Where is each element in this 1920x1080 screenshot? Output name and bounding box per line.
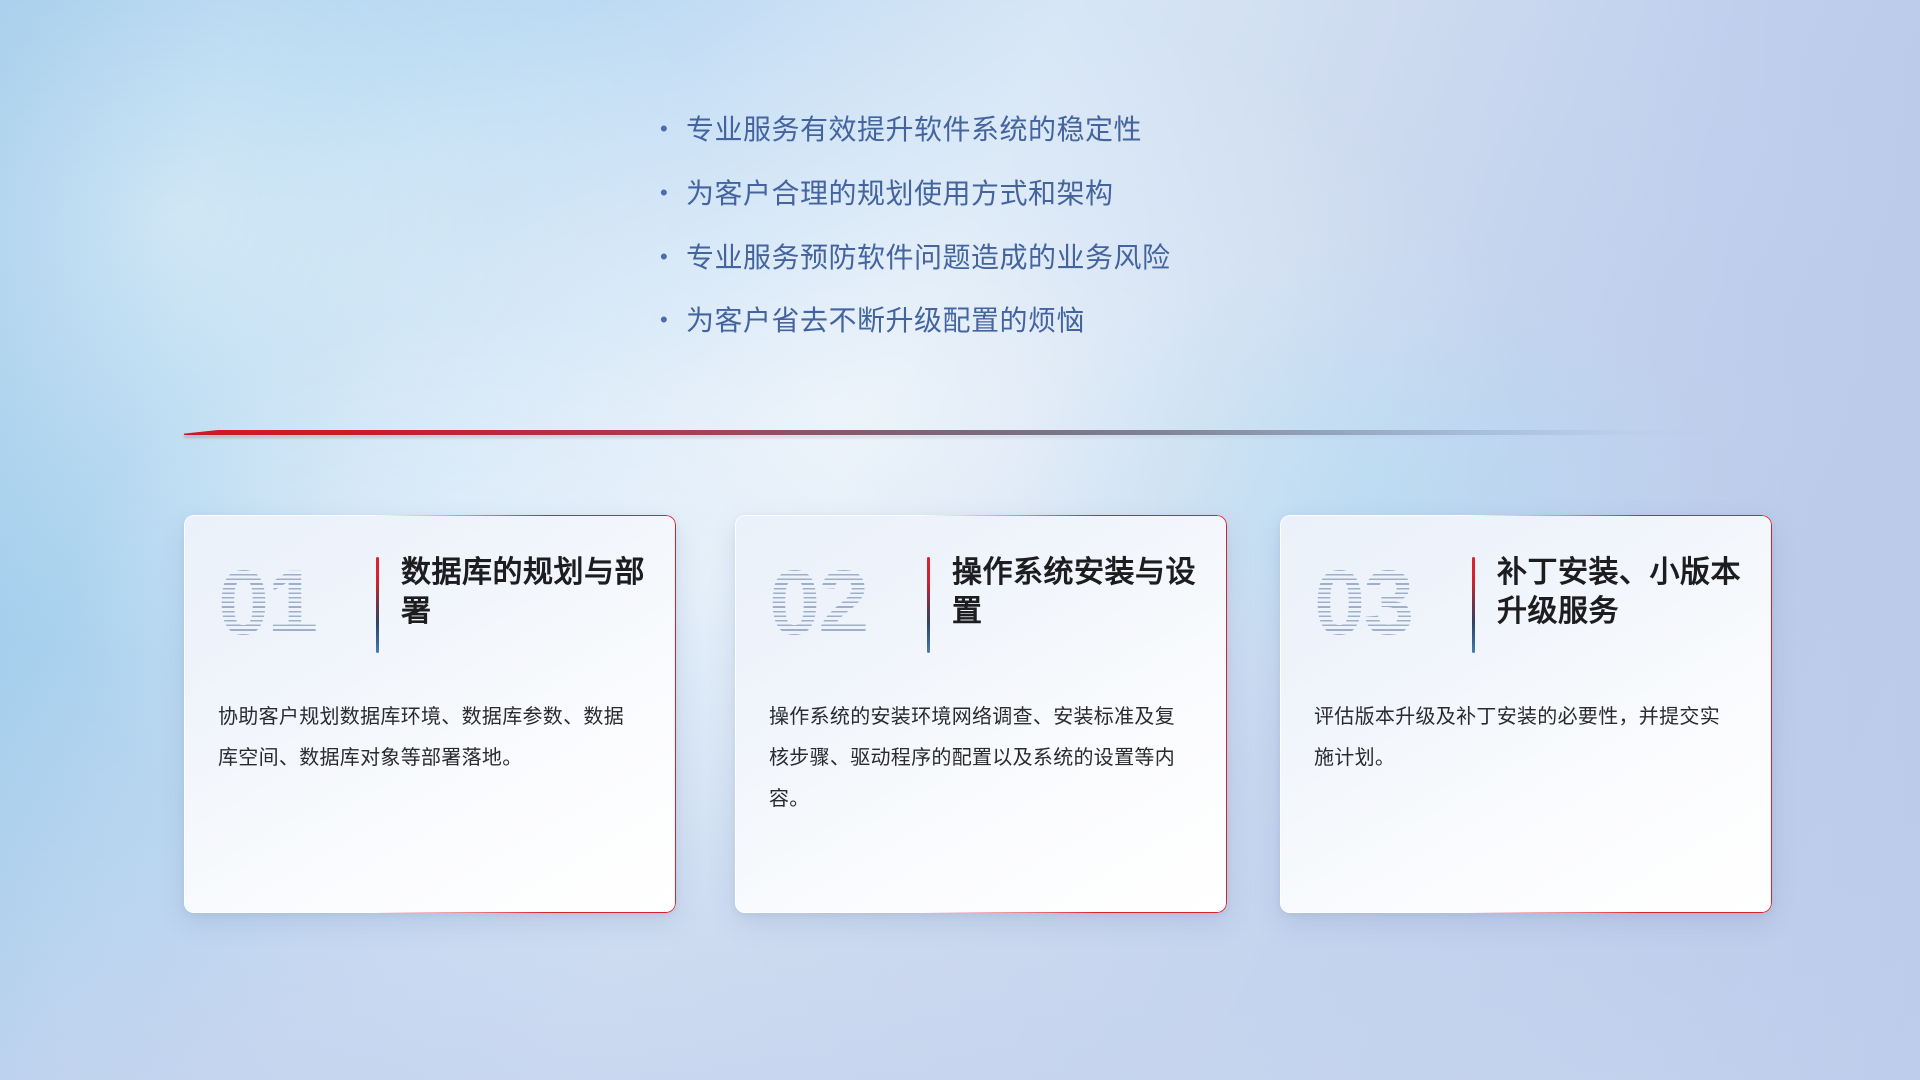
bullet-dot-icon (660, 246, 686, 268)
bullet-dot-icon (660, 309, 686, 331)
card-number-text: 03 (1314, 551, 1466, 655)
service-card-row: 01 数据库的规划与部署 协助客户规划数据库环境、数据库参数、数据库空间、数据库… (0, 515, 1920, 935)
card-accent-bar (1472, 557, 1475, 653)
card-number-watermark: 01 (218, 551, 370, 659)
list-item: 专业服务预防软件问题造成的业务风险 (660, 240, 1420, 276)
card-header: 02 操作系统安装与设置 (735, 515, 1227, 675)
card-title: 数据库的规划与部署 (401, 551, 646, 631)
section-divider (184, 428, 1724, 438)
bullet-dot-icon (660, 182, 686, 204)
card-description: 评估版本升级及补丁安装的必要性，并提交实施计划。 (1280, 675, 1772, 779)
list-item: 专业服务有效提升软件系统的稳定性 (660, 112, 1420, 148)
card-number-watermark: 02 (769, 551, 921, 659)
card-header: 01 数据库的规划与部署 (184, 515, 676, 675)
card-accent-bar (927, 557, 930, 653)
service-card[interactable]: 02 操作系统安装与设置 操作系统的安装环境网络调查、安装标准及复核步骤、驱动程… (735, 515, 1227, 913)
benefits-bullet-list: 专业服务有效提升软件系统的稳定性 为客户合理的规划使用方式和架构 专业服务预防软… (660, 112, 1420, 367)
divider-shadow (184, 435, 1724, 438)
card-title: 补丁安装、小版本升级服务 (1497, 551, 1742, 631)
card-number-watermark: 03 (1314, 551, 1466, 659)
service-card[interactable]: 03 补丁安装、小版本升级服务 评估版本升级及补丁安装的必要性，并提交实施计划。 (1280, 515, 1772, 913)
bullet-dot-icon (660, 118, 686, 140)
service-card[interactable]: 01 数据库的规划与部署 协助客户规划数据库环境、数据库参数、数据库空间、数据库… (184, 515, 676, 913)
card-number-text: 01 (218, 551, 370, 655)
card-header: 03 补丁安装、小版本升级服务 (1280, 515, 1772, 675)
bullet-text: 为客户省去不断升级配置的烦恼 (686, 303, 1085, 339)
bullet-text: 专业服务有效提升软件系统的稳定性 (686, 112, 1142, 148)
card-description: 操作系统的安装环境网络调查、安装标准及复核步骤、驱动程序的配置以及系统的设置等内… (735, 675, 1227, 820)
list-item: 为客户合理的规划使用方式和架构 (660, 176, 1420, 212)
card-number-text: 02 (769, 551, 921, 655)
bullet-text: 为客户合理的规划使用方式和架构 (686, 176, 1114, 212)
list-item: 为客户省去不断升级配置的烦恼 (660, 303, 1420, 339)
card-description: 协助客户规划数据库环境、数据库参数、数据库空间、数据库对象等部署落地。 (184, 675, 676, 779)
bullet-text: 专业服务预防软件问题造成的业务风险 (686, 240, 1171, 276)
card-accent-bar (376, 557, 379, 653)
card-title: 操作系统安装与设置 (952, 551, 1197, 631)
